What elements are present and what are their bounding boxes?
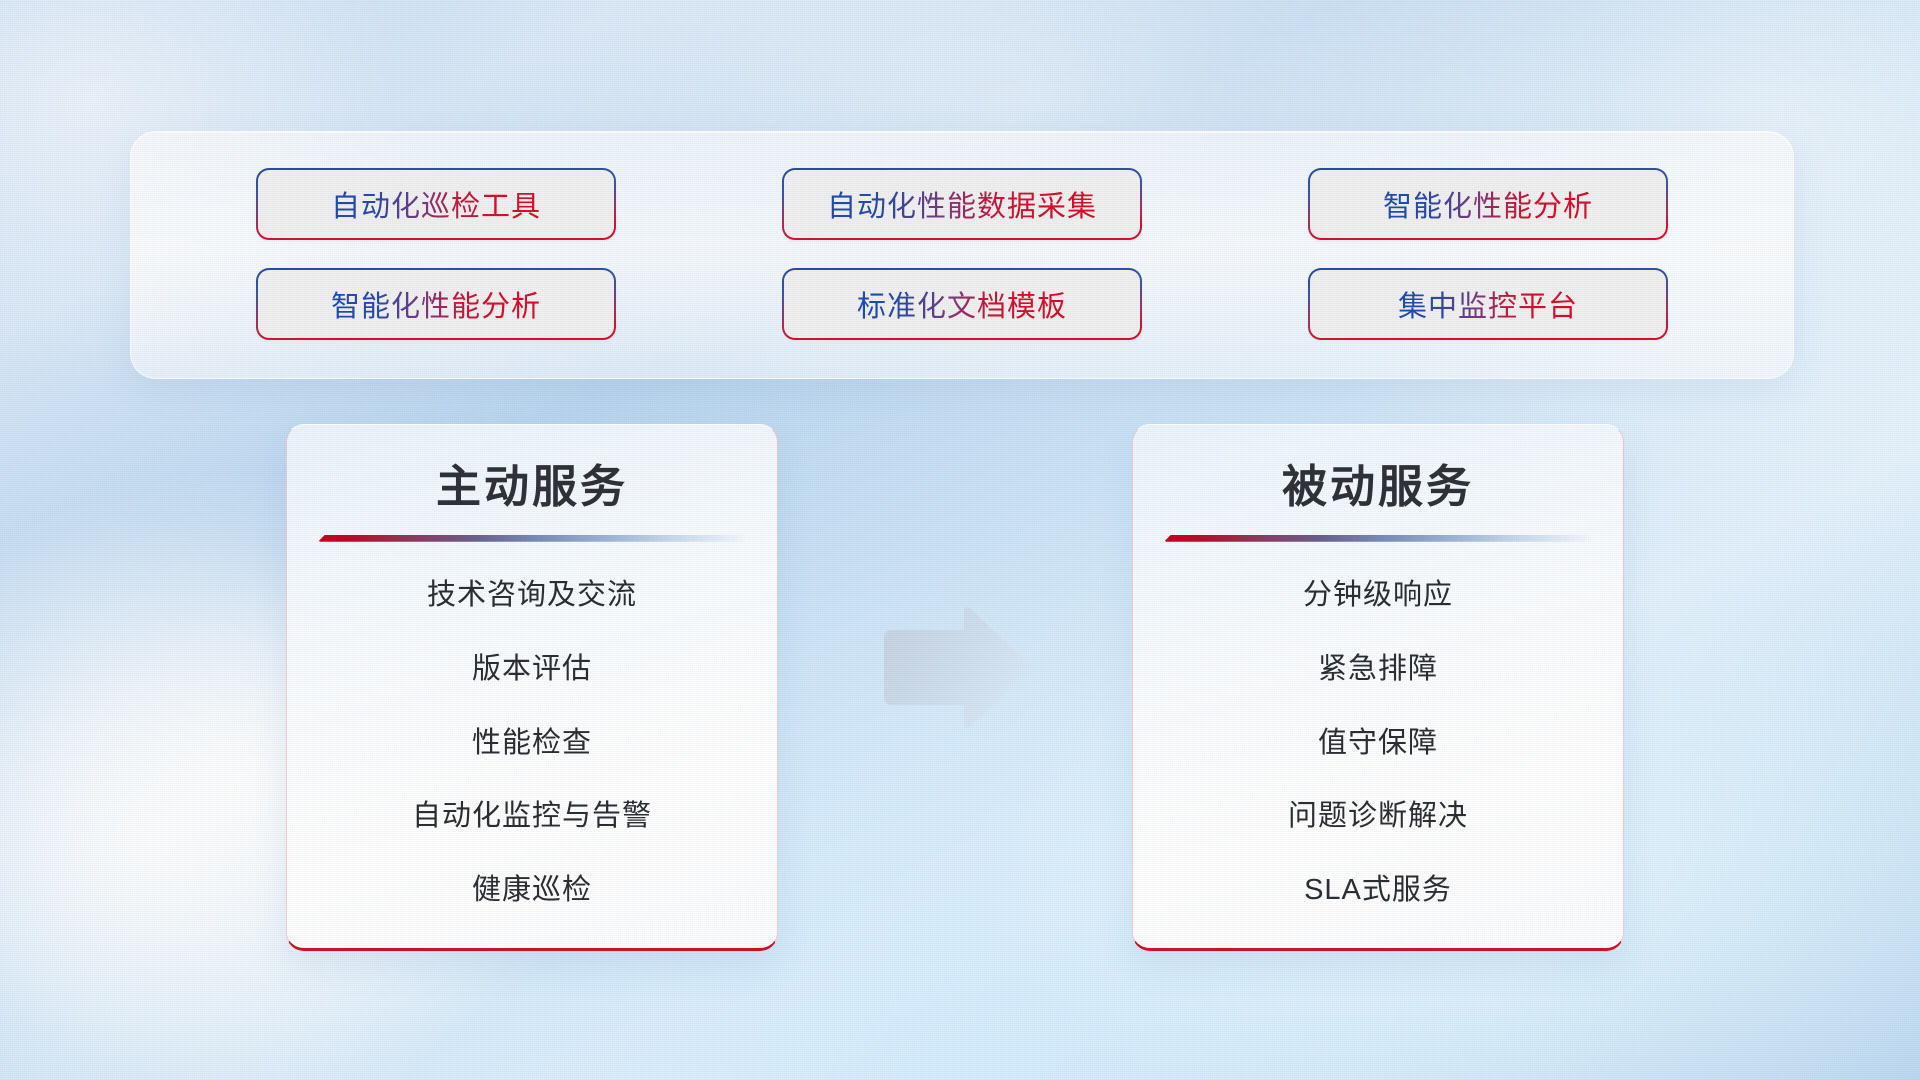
arrow-right-icon <box>872 604 1032 734</box>
capability-tag-intelligent-perf-analysis-2[interactable]: 智能化性能分析 <box>258 270 614 338</box>
list-item: 问题诊断解决 <box>1133 801 1623 833</box>
card-title-reactive: 被动服务 <box>1133 461 1623 513</box>
list-item: SLA式服务 <box>1133 875 1623 907</box>
card-title-underline <box>318 535 746 542</box>
list-item: 性能检查 <box>287 728 777 760</box>
service-card-reactive: 被动服务 分钟级响应 紧急排障 值守保障 问题诊断解决 SLA式服务 <box>1132 424 1624 951</box>
card-title-proactive: 主动服务 <box>287 461 777 513</box>
capability-tag-label: 自动化巡检工具 <box>331 183 541 225</box>
capability-tag-centralized-monitoring-platform[interactable]: 集中监控平台 <box>1310 270 1666 338</box>
list-item: 自动化监控与告警 <box>287 801 777 833</box>
proactive-service-list: 技术咨询及交流 版本评估 性能检查 自动化监控与告警 健康巡检 <box>287 580 777 907</box>
capability-tag-automated-perf-data-collection[interactable]: 自动化性能数据采集 <box>784 170 1140 238</box>
capability-tag-label: 集中监控平台 <box>1398 283 1578 325</box>
list-item: 健康巡检 <box>287 875 777 907</box>
list-item: 技术咨询及交流 <box>287 580 777 612</box>
reactive-service-list: 分钟级响应 紧急排障 值守保障 问题诊断解决 SLA式服务 <box>1133 580 1623 907</box>
list-item: 分钟级响应 <box>1133 580 1623 612</box>
list-item: 值守保障 <box>1133 728 1623 760</box>
service-card-proactive: 主动服务 技术咨询及交流 版本评估 性能检查 自动化监控与告警 健康巡检 <box>286 424 778 951</box>
capability-tag-intelligent-perf-analysis-1[interactable]: 智能化性能分析 <box>1310 170 1666 238</box>
capability-tag-label: 智能化性能分析 <box>331 283 541 325</box>
list-item: 紧急排障 <box>1133 654 1623 686</box>
capability-tag-panel: 自动化巡检工具 自动化性能数据采集 智能化性能分析 智能化性能分析 标准化文档模… <box>130 131 1794 379</box>
card-title-underline <box>1164 535 1592 542</box>
capability-tag-label: 标准化文档模板 <box>857 283 1067 325</box>
capability-tag-automated-inspection-tool[interactable]: 自动化巡检工具 <box>258 170 614 238</box>
capability-tag-standardized-doc-template[interactable]: 标准化文档模板 <box>784 270 1140 338</box>
capability-tag-label: 自动化性能数据采集 <box>827 183 1097 225</box>
capability-tag-label: 智能化性能分析 <box>1383 183 1593 225</box>
slide-canvas: 自动化巡检工具 自动化性能数据采集 智能化性能分析 智能化性能分析 标准化文档模… <box>0 0 1920 1080</box>
list-item: 版本评估 <box>287 654 777 686</box>
